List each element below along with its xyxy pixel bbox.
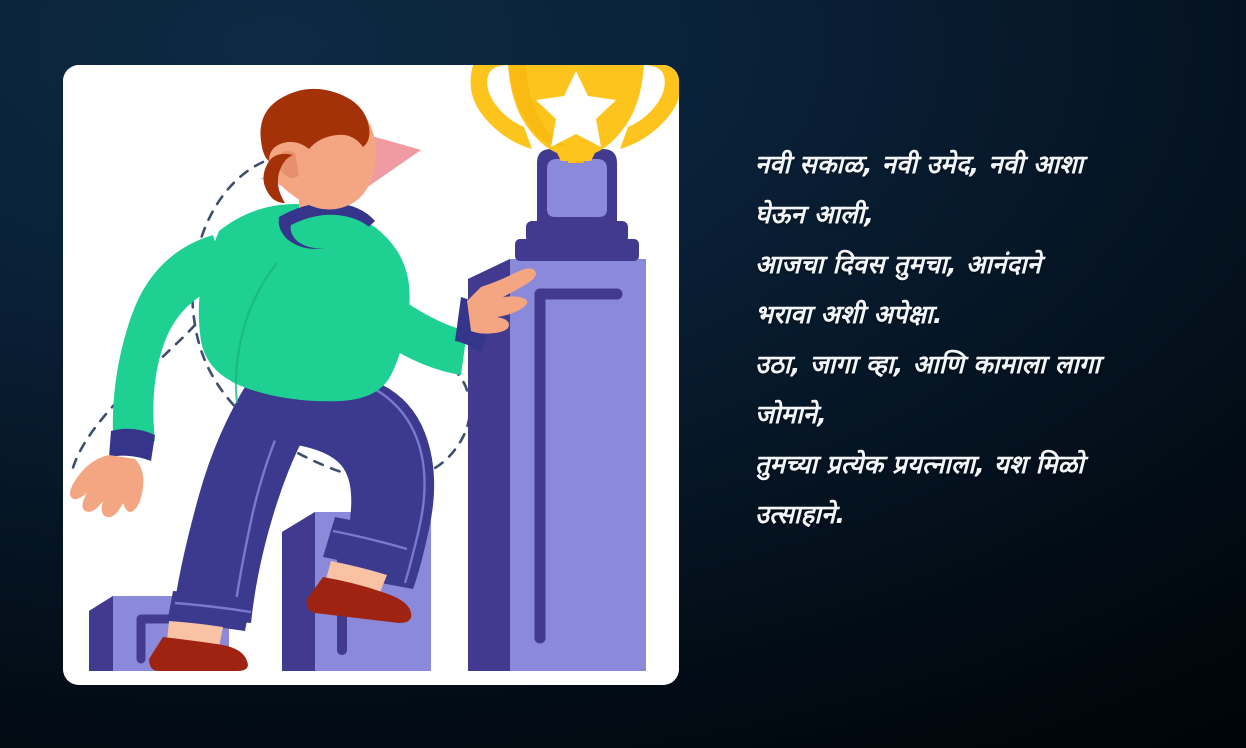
quote-line-8: उत्साहाने. — [755, 490, 1225, 540]
illustration-card — [63, 65, 679, 685]
quote-line-3: आजचा दिवस तुमचा, आनंदाने — [755, 240, 1225, 290]
quote-line-4: भरावा अशी अपेक्षा. — [755, 290, 1225, 340]
quote-line-5: उठा, जागा व्हा, आणि कामाला लागा — [755, 340, 1225, 390]
quote-line-1: नवी सकाळ, नवी उमेद, नवी आशा — [755, 140, 1225, 190]
trophy-pedestal-mid — [526, 221, 628, 243]
trophy-pedestal-plaque — [547, 159, 607, 217]
quote-text-block: नवी सकाळ, नवी उमेद, नवी आशा घेऊन आली, आज… — [755, 140, 1225, 540]
quote-line-2: घेऊन आली, — [755, 190, 1225, 240]
motivation-illustration — [63, 65, 679, 685]
quote-line-7: तुमच्या प्रत्येक प्रयत्नाला, यश मिळो — [755, 440, 1225, 490]
quote-line-6: जोमाने, — [755, 390, 1225, 440]
poster-canvas: नवी सकाळ, नवी उमेद, नवी आशा घेऊन आली, आज… — [0, 0, 1246, 748]
